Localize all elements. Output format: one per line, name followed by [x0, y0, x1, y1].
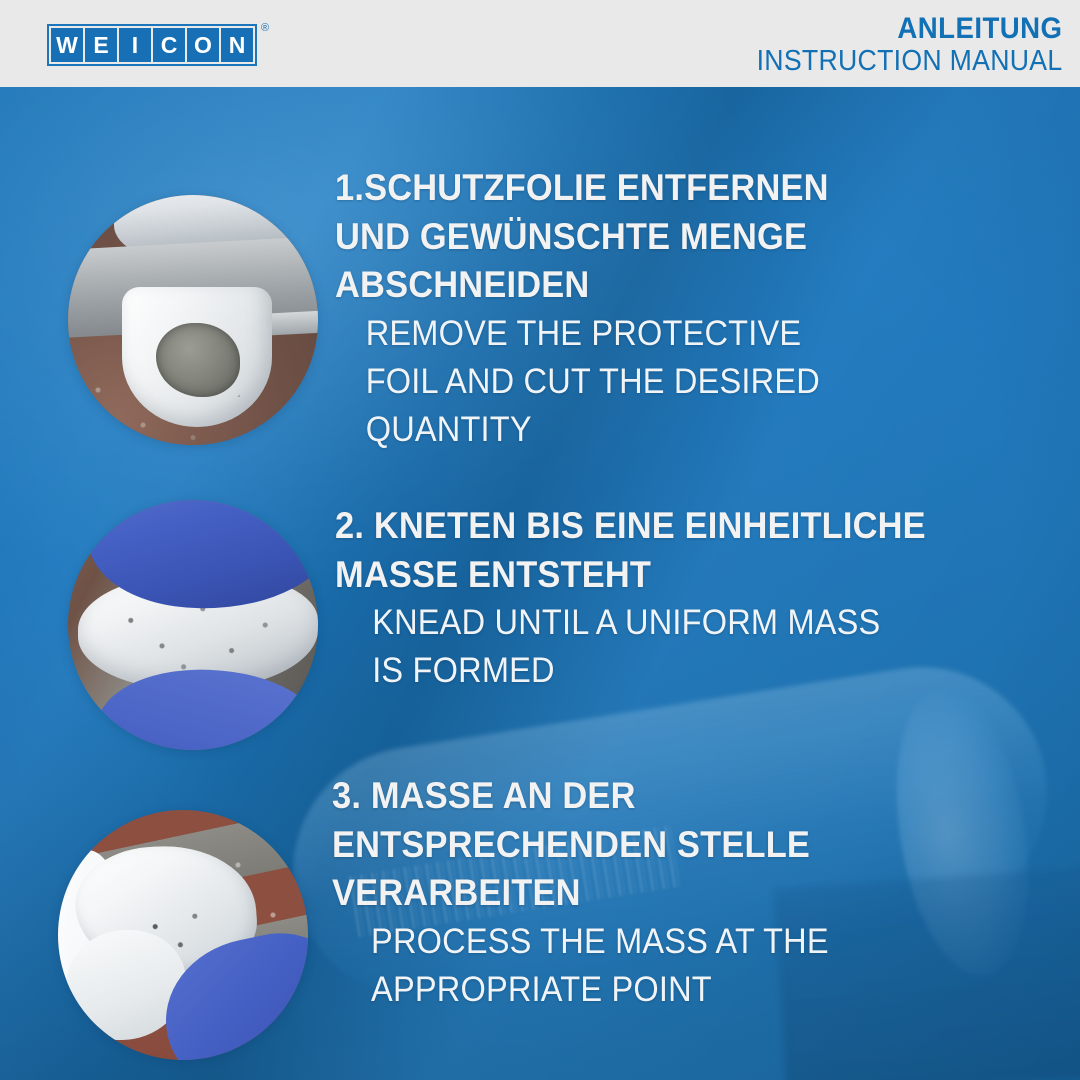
- step-2-text-block: 2. KNETEN BIS EINE EINHEITLICHE MASSE EN…: [335, 502, 1075, 695]
- step-1-subline-english: REMOVE THE PROTECTIVE FOIL AND CUT THE D…: [335, 310, 986, 454]
- header-titles: ANLEITUNG INSTRUCTION MANUAL: [730, 13, 1062, 78]
- manual-title-german: ANLEITUNG: [756, 13, 1062, 45]
- step-2-subline-english: KNEAD UNTIL A UNIFORM MASS IS FORMED: [335, 599, 1023, 695]
- logo-letter-n: N: [221, 28, 253, 62]
- step-1-photo-core-texture: [156, 323, 240, 397]
- logo-letter-o: O: [187, 28, 219, 62]
- step-1-headline-german: 1.SCHUTZFOLIE ENTFERNEN UND GEWÜNSCHTE M…: [335, 164, 986, 310]
- step-1-photo-putty-core: [156, 323, 240, 397]
- logo-letter-w: W: [51, 28, 83, 62]
- step-3-subline-english: PROCESS THE MASS AT THE APPROPRIATE POIN…: [332, 918, 983, 1014]
- logo-letter-i: I: [119, 28, 151, 62]
- steps-container: 1.SCHUTZFOLIE ENTFERNEN UND GEWÜNSCHTE M…: [0, 87, 1080, 1080]
- step-3-headline-german: 3. MASSE AN DER ENTSPRECHENDEN STELLE VE…: [332, 772, 983, 918]
- page-header: W E I C O N ® ANLEITUNG INSTRUCTION MANU…: [0, 0, 1080, 87]
- step-1-text-block: 1.SCHUTZFOLIE ENTFERNEN UND GEWÜNSCHTE M…: [335, 164, 1035, 454]
- step-3-photo: [58, 810, 308, 1060]
- weicon-logo: W E I C O N ®: [47, 24, 269, 66]
- step-2-photo: [68, 500, 318, 750]
- step-1-photo: [68, 195, 318, 445]
- logo-letter-c: C: [153, 28, 185, 62]
- step-2-headline-german: 2. KNETEN BIS EINE EINHEITLICHE MASSE EN…: [335, 502, 1023, 599]
- logo-letter-frame: W E I C O N: [47, 24, 257, 66]
- step-3-text-block: 3. MASSE AN DER ENTSPRECHENDEN STELLE VE…: [332, 772, 1032, 1014]
- manual-title-english: INSTRUCTION MANUAL: [756, 45, 1062, 78]
- logo-letter-e: E: [85, 28, 117, 62]
- registered-trademark-icon: ®: [261, 22, 269, 34]
- instruction-manual-graphic: W E I C O N ® ANLEITUNG INSTRUCTION MANU…: [0, 0, 1080, 1080]
